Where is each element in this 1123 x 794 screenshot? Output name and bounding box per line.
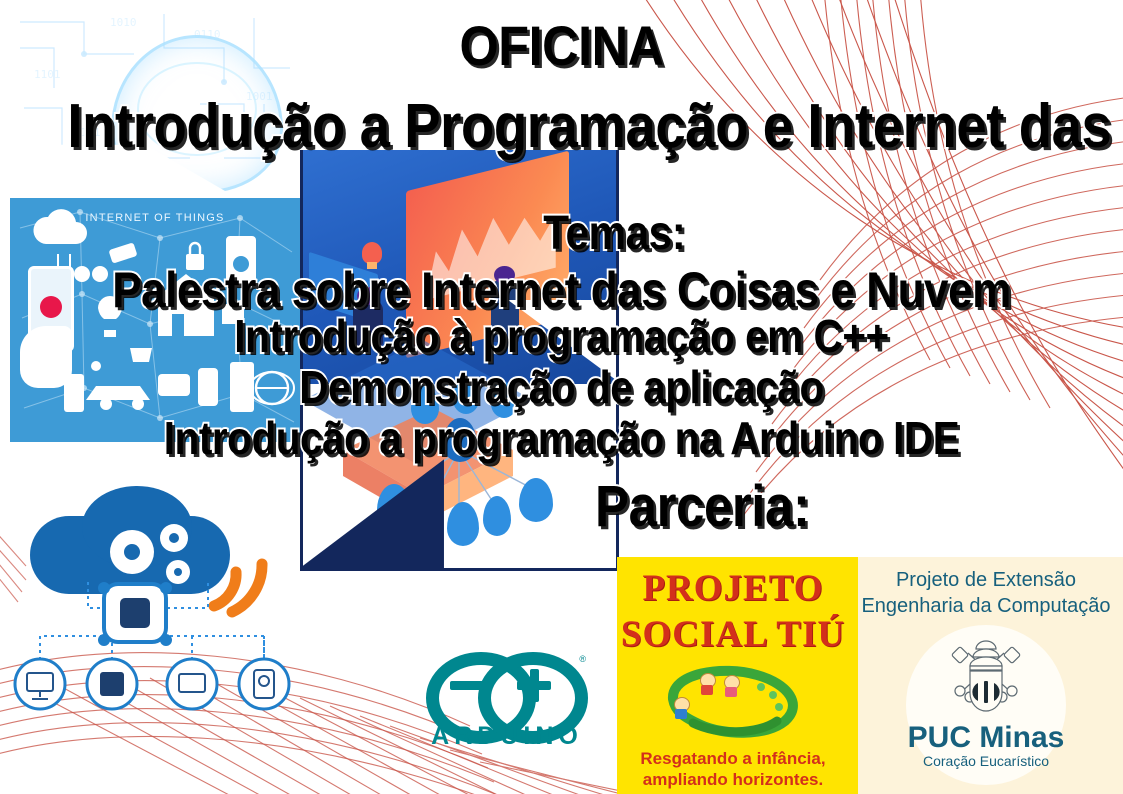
poster-canvas: 10100110 11011001 01011100 INTERNET OF T… bbox=[0, 0, 1123, 794]
tiu-line-1: PROJETO bbox=[617, 567, 849, 610]
partners-label: Parceria: bbox=[67, 478, 1055, 536]
tiu-tagline-2: ampliando horizontes. bbox=[617, 770, 849, 790]
svg-text:1100: 1100 bbox=[164, 168, 191, 181]
poster-headline: OFICINA bbox=[56, 18, 1067, 74]
yellow-divider bbox=[849, 557, 858, 794]
puc-header-line-2: Engenharia da Computação bbox=[849, 595, 1123, 618]
puc-name: PUC Minas bbox=[906, 721, 1066, 755]
registered-mark: ® bbox=[579, 654, 586, 664]
tiu-tagline-1: Resgatando a infância, bbox=[617, 749, 849, 769]
puc-header-line-1: Projeto de Extensão bbox=[849, 569, 1123, 592]
arduino-infinity-icon: ® bbox=[426, 652, 588, 718]
child-figure bbox=[723, 675, 739, 701]
poster-title: Introdução a Programação e Internet das … bbox=[67, 96, 1055, 158]
child-figure bbox=[673, 697, 689, 723]
arduino-logo: ® ARDUINO bbox=[412, 648, 602, 764]
topic-item: Demonstração de aplicação bbox=[67, 364, 1055, 410]
topic-item: Palestra sobre Internet das Coisas e Nuv… bbox=[67, 265, 1055, 315]
tiu-line-2: SOCIAL TIÚ bbox=[617, 613, 849, 656]
topic-item: Introdução a programação na Arduino IDE bbox=[67, 415, 1055, 461]
papal-crest-icon bbox=[940, 639, 1032, 715]
child-figure bbox=[699, 673, 715, 699]
topic-item: Introdução à programação em C++ bbox=[67, 313, 1055, 359]
topics-label: Temas: bbox=[67, 210, 1055, 258]
iot-hand-graphic bbox=[20, 326, 72, 388]
puc-campus: Coração Eucarístico bbox=[906, 753, 1066, 769]
puc-logo-circle: PUC Minas Coração Eucarístico bbox=[906, 625, 1066, 785]
arduino-wordmark: ARDUINO bbox=[412, 722, 602, 751]
projeto-social-tiu-logo: PROJETO SOCIAL TIÚ Resgatando a infância… bbox=[617, 557, 849, 794]
cloud-iot-diagram bbox=[8, 510, 308, 730]
puc-minas-block: Projeto de Extensão Engenharia da Comput… bbox=[849, 557, 1123, 794]
